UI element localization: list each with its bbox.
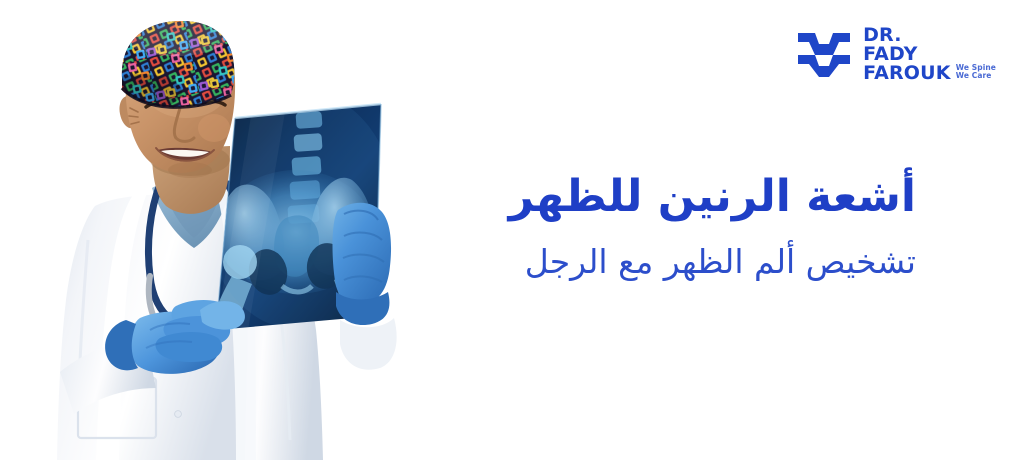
doctor-photo <box>0 0 470 460</box>
brand-wordmark: DR. FADY FAROUK <box>863 26 951 82</box>
brand-logo[interactable]: DR. FADY FAROUK We Spine We Care <box>795 26 996 82</box>
brand-line-3: FAROUK <box>863 64 951 83</box>
subheadline: تشخيص ألم الظهر مع الرجل <box>446 241 916 284</box>
banner-copy: أشعة الرنين للظهر تشخيص ألم الظهر مع الر… <box>446 170 916 283</box>
headline: أشعة الرنين للظهر <box>446 170 916 225</box>
tagline-line-2: We Care <box>956 72 996 80</box>
brand-tagline: We Spine We Care <box>956 64 996 83</box>
brand-line-2: FADY <box>863 45 951 64</box>
double-chevron-spine-mark <box>795 28 853 80</box>
promo-banner: DR. FADY FAROUK We Spine We Care أشعة ال… <box>0 0 1024 460</box>
brand-line-1: DR. <box>863 26 951 45</box>
